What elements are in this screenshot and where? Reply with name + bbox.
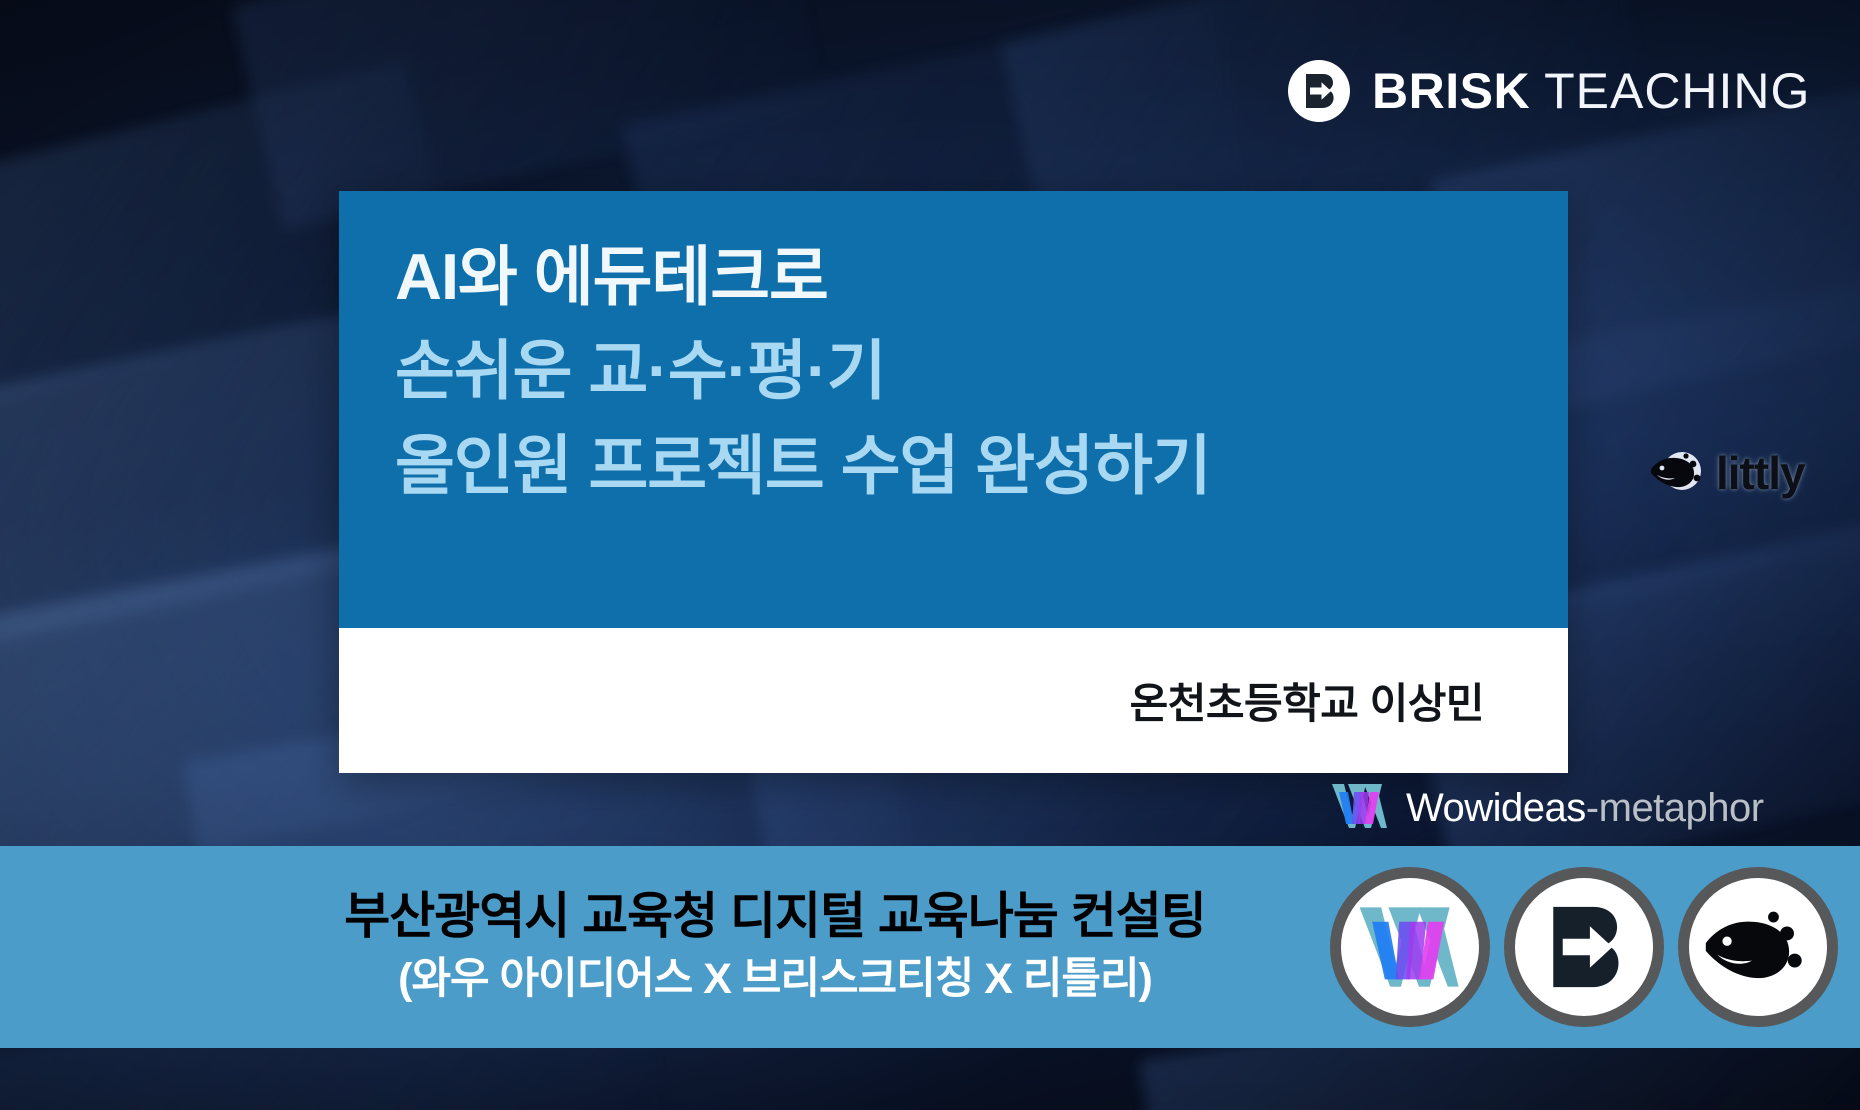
title-card: AI와 에듀테크로 손쉬운 교·수·평·기 올인원 프로젝트 수업 완성하기 온… bbox=[339, 191, 1568, 773]
banner-partner-logos bbox=[1330, 867, 1838, 1027]
brisk-word-light: TEACHING bbox=[1544, 62, 1810, 120]
littly-creature-icon bbox=[1648, 447, 1708, 500]
littly-wordmark: littly bbox=[1716, 446, 1805, 500]
title-line-1: AI와 에듀테크로 bbox=[395, 243, 1568, 311]
banner-line-1: 부산광역시 교육청 디지털 교육나눔 컨설팅 bbox=[10, 888, 1540, 946]
bottom-banner: 부산광역시 교육청 디지털 교육나눔 컨설팅 (와우 아이디어스 X 브리스크티… bbox=[0, 846, 1860, 1048]
title-line-2: 손쉬운 교·수·평·기 bbox=[395, 337, 1568, 405]
wowideas-word-primary: Wowideas bbox=[1406, 786, 1586, 830]
brisk-teaching-wordmark: BRISK TEACHING bbox=[1372, 62, 1810, 120]
brisk-word-bold: BRISK bbox=[1372, 62, 1530, 120]
littly-badge bbox=[1678, 867, 1838, 1027]
wowideas-wordmark: Wowideas-metaphor bbox=[1406, 786, 1764, 831]
wowideas-metaphor-logo: Wowideas-metaphor bbox=[1330, 780, 1764, 837]
title-card-blue-panel: AI와 에듀테크로 손쉬운 교·수·평·기 올인원 프로젝트 수업 완성하기 bbox=[339, 191, 1568, 628]
wowideas-w-icon bbox=[1330, 780, 1390, 837]
presentation-title-slide: BRISK TEACHING littly AI와 에듀테크로 손쉬운 교·수·… bbox=[0, 0, 1860, 1110]
brisk-b-arrow-icon bbox=[1288, 60, 1350, 122]
wowideas-badge bbox=[1330, 867, 1490, 1027]
presenter-name: 온천초등학교 이상민 bbox=[1130, 670, 1484, 731]
banner-line-2: (와우 아이디어스 X 브리스크티칭 X 리틀리) bbox=[10, 954, 1540, 1006]
title-line-3: 올인원 프로젝트 수업 완성하기 bbox=[395, 432, 1568, 500]
littly-watermark: littly bbox=[1648, 446, 1805, 500]
brisk-badge bbox=[1504, 867, 1664, 1027]
wowideas-word-secondary: -metaphor bbox=[1586, 786, 1764, 830]
brisk-teaching-logo: BRISK TEACHING bbox=[1288, 60, 1810, 122]
title-card-white-panel: 온천초등학교 이상민 bbox=[339, 628, 1568, 773]
